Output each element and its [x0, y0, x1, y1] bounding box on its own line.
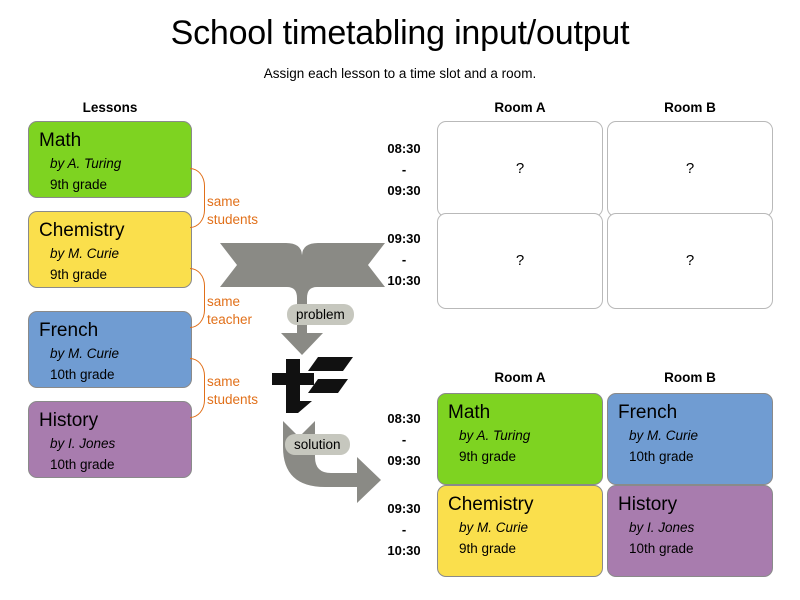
- timeslot-end: 10:30: [373, 270, 435, 291]
- lesson-card-math[interactable]: Math by A. Turing 9th grade: [28, 121, 192, 198]
- lesson-teacher: by M. Curie: [618, 425, 772, 446]
- lessons-column-heading: Lessons: [28, 100, 192, 115]
- flow-diagram: [215, 225, 390, 515]
- timeslot-start: 08:30: [373, 138, 435, 159]
- solution-room-b-heading: Room B: [607, 370, 773, 385]
- timeslot-start: 09:30: [373, 228, 435, 249]
- timeslot-start: 08:30: [373, 408, 435, 429]
- solution-timeslot-label-2: 09:30 - 10:30: [373, 498, 435, 561]
- problem-slot-row1-room-b[interactable]: ?: [607, 121, 773, 217]
- lesson-teacher: by I. Jones: [618, 517, 772, 538]
- lesson-subject: Math: [448, 400, 602, 425]
- lesson-grade: 10th grade: [39, 454, 191, 475]
- lesson-subject: Math: [39, 128, 191, 153]
- problem-arrow-icon: [220, 243, 385, 355]
- problem-timeslot-label-2: 09:30 - 10:30: [373, 228, 435, 291]
- lesson-grade: 10th grade: [618, 446, 772, 467]
- timeslot-end: 09:30: [373, 450, 435, 471]
- constraint-brace-icon: [190, 268, 205, 328]
- constraint-brace-icon: [190, 168, 205, 228]
- timeslot-end: 10:30: [373, 540, 435, 561]
- lesson-grade: 9th grade: [39, 264, 191, 285]
- solution-label-pill: solution: [285, 434, 350, 455]
- constraint-brace-icon: [190, 358, 205, 418]
- lesson-subject: History: [618, 492, 772, 517]
- lesson-teacher: by M. Curie: [39, 243, 191, 264]
- solution-timeslot-label-1: 08:30 - 09:30: [373, 408, 435, 471]
- problem-slot-row2-room-b[interactable]: ?: [607, 213, 773, 309]
- lesson-card-french[interactable]: French by M. Curie 10th grade: [28, 311, 192, 388]
- timeslot-end: 09:30: [373, 180, 435, 201]
- problem-room-b-heading: Room B: [607, 100, 773, 115]
- lesson-subject: French: [39, 318, 191, 343]
- problem-slot-row2-room-a[interactable]: ?: [437, 213, 603, 309]
- lesson-teacher: by M. Curie: [39, 343, 191, 364]
- problem-timeslot-label-1: 08:30 - 09:30: [373, 138, 435, 201]
- timeslot-dash: -: [373, 159, 435, 180]
- timeslot-dash: -: [373, 249, 435, 270]
- lesson-card-history[interactable]: History by I. Jones 10th grade: [28, 401, 192, 478]
- lesson-subject: Chemistry: [39, 218, 191, 243]
- problem-slot-row1-room-a[interactable]: ?: [437, 121, 603, 217]
- lesson-teacher: by A. Turing: [448, 425, 602, 446]
- lesson-subject: History: [39, 408, 191, 433]
- lesson-teacher: by I. Jones: [39, 433, 191, 454]
- timeslot-dash: -: [373, 519, 435, 540]
- lesson-card-chemistry[interactable]: Chemistry by M. Curie 9th grade: [28, 211, 192, 288]
- lesson-grade: 10th grade: [618, 538, 772, 559]
- unassigned-question-mark: ?: [438, 158, 602, 180]
- lesson-grade: 9th grade: [39, 174, 191, 195]
- solution-slot-row2-room-b[interactable]: History by I. Jones 10th grade: [607, 485, 773, 577]
- problem-room-a-heading: Room A: [437, 100, 603, 115]
- page-title: School timetabling input/output: [0, 14, 800, 53]
- unassigned-question-mark: ?: [608, 158, 772, 180]
- unassigned-question-mark: ?: [608, 250, 772, 272]
- solution-slot-row1-room-a[interactable]: Math by A. Turing 9th grade: [437, 393, 603, 485]
- unassigned-question-mark: ?: [438, 250, 602, 272]
- timefold-logo-icon: [272, 357, 353, 413]
- lesson-teacher: by A. Turing: [39, 153, 191, 174]
- timeslot-start: 09:30: [373, 498, 435, 519]
- solution-room-a-heading: Room A: [437, 370, 603, 385]
- lesson-subject: Chemistry: [448, 492, 602, 517]
- constraint-line-1: same: [207, 193, 277, 211]
- problem-label-pill: problem: [287, 304, 354, 325]
- lesson-subject: French: [618, 400, 772, 425]
- solution-slot-row2-room-a[interactable]: Chemistry by M. Curie 9th grade: [437, 485, 603, 577]
- lesson-grade: 10th grade: [39, 364, 191, 385]
- timeslot-dash: -: [373, 429, 435, 450]
- solution-slot-row1-room-b[interactable]: French by M. Curie 10th grade: [607, 393, 773, 485]
- lesson-teacher: by M. Curie: [448, 517, 602, 538]
- page-subtitle: Assign each lesson to a time slot and a …: [0, 66, 800, 81]
- constraint-label-same-students: same students: [207, 193, 277, 229]
- lesson-grade: 9th grade: [448, 446, 602, 467]
- lesson-grade: 9th grade: [448, 538, 602, 559]
